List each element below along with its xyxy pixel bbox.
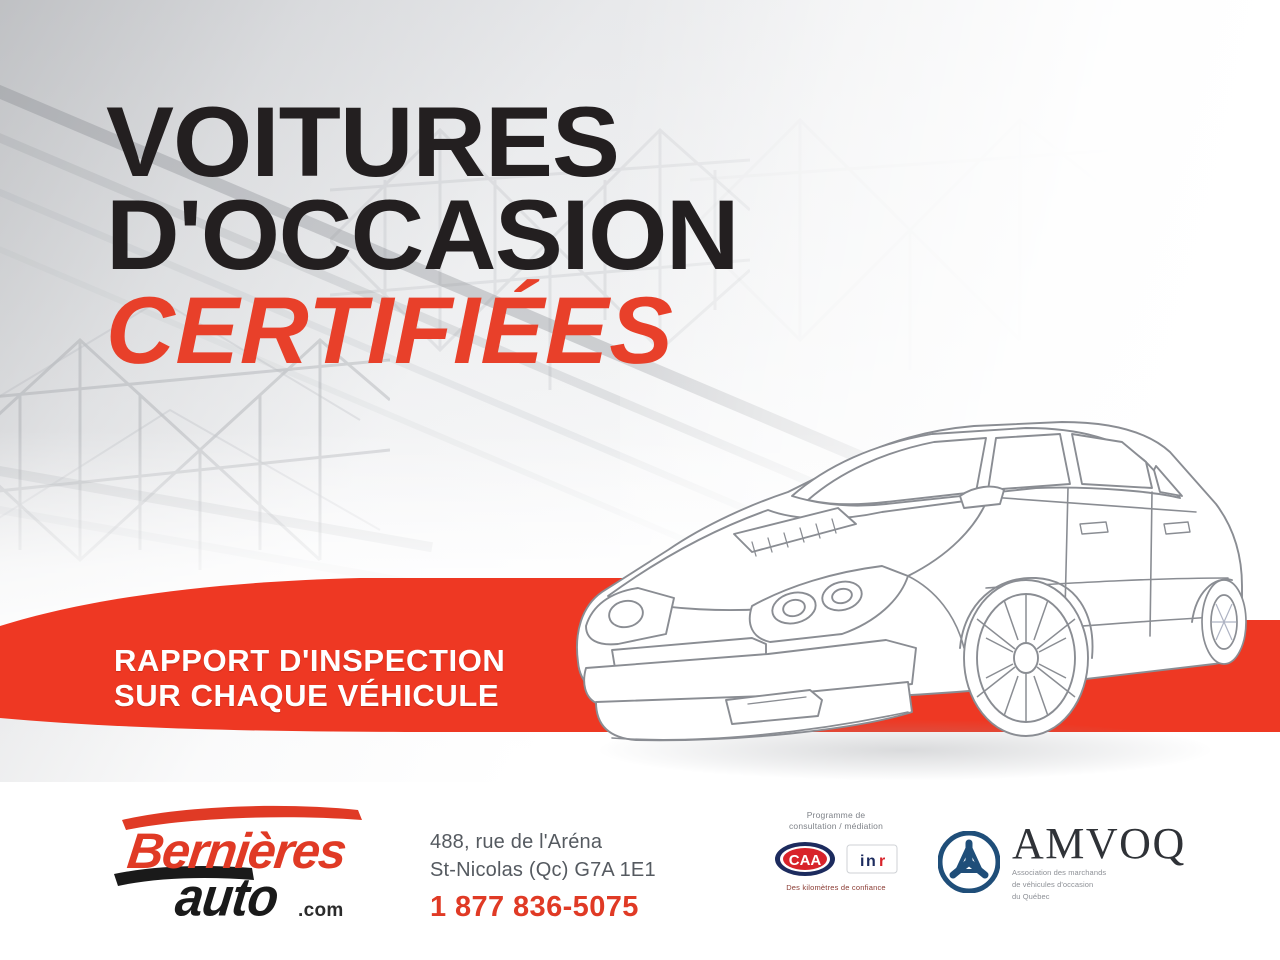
banner-text-block: RAPPORT D'INSPECTION SUR CHAQUE VÉHICULE <box>114 644 505 713</box>
caa-heading-line-1: Programme de <box>746 810 926 821</box>
address-city-postal: St-Nicolas (Qc) G7A 1E1 <box>430 856 656 884</box>
svg-text:n: n <box>866 853 876 870</box>
svg-text:r: r <box>879 853 885 870</box>
amvoq-text-block: AMVOQ Association des marchands de véhic… <box>1012 822 1186 902</box>
caa-footnote: Des kilomètres de confiance <box>746 883 926 893</box>
logo-tld-text: .com <box>298 900 344 922</box>
caa-heading-line-2: consultation / médiation <box>746 821 926 832</box>
amvoq-tagline-2: de véhicules d'occasion <box>1012 880 1186 890</box>
contact-block: 488, rue de l'Aréna St-Nicolas (Qc) G7A … <box>430 828 656 924</box>
amvoq-emblem-icon <box>938 831 1000 893</box>
banner-line-1: RAPPORT D'INSPECTION <box>114 644 505 679</box>
amvoq-tagline-1: Association des marchands <box>1012 868 1186 878</box>
car-illustration <box>556 400 1256 800</box>
caa-logo-icon: CAA <box>774 840 836 878</box>
headline-line-2: D'OCCASION <box>106 189 738 282</box>
svg-text:CAA: CAA <box>789 852 822 869</box>
amvoq-name: AMVOQ <box>1012 822 1186 866</box>
amvoq-block: AMVOQ Association des marchands de véhic… <box>938 822 1186 902</box>
phone-number[interactable]: 1 877 836-5075 <box>430 891 656 924</box>
caa-partner-block: Programme de consultation / médiation CA… <box>746 810 926 893</box>
dealer-logo[interactable]: Bernières auto .com <box>112 794 382 924</box>
caa-logo-row: CAA i n r <box>746 840 926 878</box>
advertisement-poster: VOITURES D'OCCASION CERTIFIÉES RAPPORT D… <box>0 0 1280 960</box>
svg-text:i: i <box>860 853 864 870</box>
logo-sub-text: auto <box>172 866 281 929</box>
partner-logo-icon: i n r <box>846 840 898 878</box>
banner-line-2: SUR CHAQUE VÉHICULE <box>114 679 505 714</box>
headline-line-1: VOITURES <box>106 96 738 189</box>
footer-bar: Bernières auto .com 488, rue de l'Aréna … <box>0 782 1280 960</box>
address-street: 488, rue de l'Aréna <box>430 828 656 856</box>
headline-block: VOITURES D'OCCASION CERTIFIÉES <box>106 96 720 376</box>
amvoq-tagline-3: du Québec <box>1012 892 1186 902</box>
headline-line-3-certified: CERTIFIÉES <box>106 287 720 376</box>
